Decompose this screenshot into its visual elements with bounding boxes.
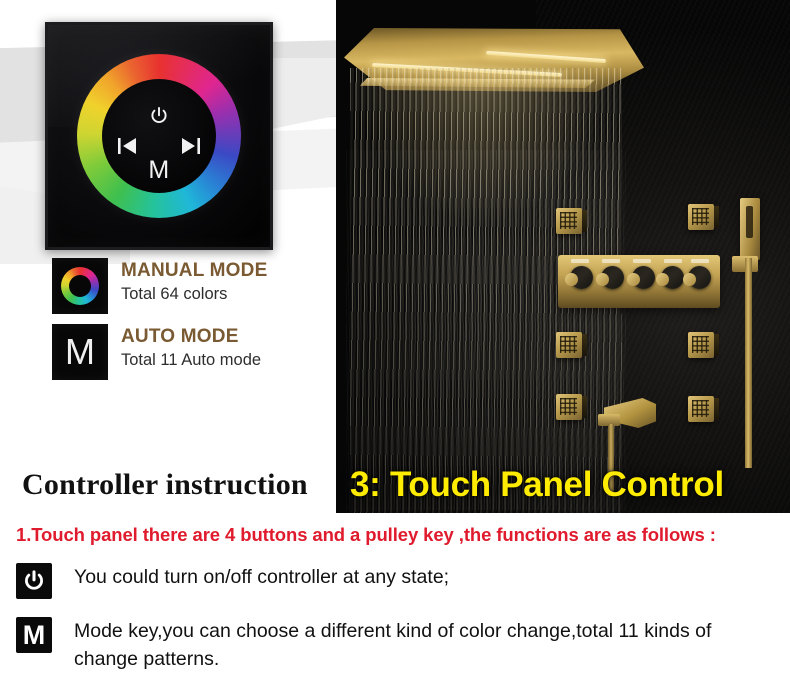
instruction-text: Mode key,you can choose a different kind… (52, 617, 774, 674)
valve-knob (661, 266, 684, 289)
next-track-icon[interactable] (178, 135, 202, 157)
instruction-text: You could turn on/off controller at any … (52, 563, 449, 591)
handheld-shower (740, 198, 760, 260)
valve-label (571, 259, 589, 263)
infographic-canvas: M MANUAL MODE Total 64 colors M AUTO MOD… (0, 0, 790, 692)
touch-panel-controller: M (45, 22, 273, 250)
valve-knob (601, 266, 624, 289)
body-jet (688, 332, 714, 358)
instructions-intro: 1.Touch panel there are 4 buttons and a … (16, 524, 716, 546)
body-jet (688, 204, 714, 230)
body-jet (556, 394, 582, 420)
mode-legend: MANUAL MODE Total 64 colors M AUTO MODE … (52, 258, 332, 390)
valve-label (664, 259, 682, 263)
mode-m-icon: M (16, 617, 52, 653)
legend-item-manual-mode: MANUAL MODE Total 64 colors (52, 258, 332, 314)
legend-text-block: AUTO MODE Total 11 Auto mode (108, 324, 261, 371)
water-spray (346, 150, 626, 510)
thermostatic-valve-panel (558, 255, 720, 308)
body-jet (556, 208, 582, 234)
legend-subtitle: Total 64 colors (121, 284, 267, 305)
color-wheel-ring-icon (61, 267, 99, 305)
page-title: Controller instruction (22, 468, 308, 502)
legend-text-block: MANUAL MODE Total 64 colors (108, 258, 267, 305)
color-wheel-center: M (102, 79, 216, 193)
valve-label (691, 259, 709, 263)
legend-title: MANUAL MODE (121, 260, 267, 282)
valve-knob (688, 266, 711, 289)
instruction-row-mode: M Mode key,you can choose a different ki… (16, 617, 776, 674)
body-jet (556, 332, 582, 358)
instructions-list: You could turn on/off controller at any … (16, 563, 776, 692)
manual-mode-chip (52, 258, 108, 314)
valve-label (602, 259, 620, 263)
color-wheel[interactable]: M (77, 54, 241, 218)
legend-subtitle: Total 11 Auto mode (121, 350, 261, 371)
shower-system-photo: 3: Touch Panel Control (336, 0, 790, 513)
body-jet (688, 396, 714, 422)
legend-title: AUTO MODE (121, 326, 261, 348)
valve-knob (570, 266, 593, 289)
mode-m-glyph: M (23, 622, 46, 649)
handheld-hose (745, 258, 752, 468)
photo-caption: 3: Touch Panel Control (350, 465, 724, 505)
power-icon[interactable] (148, 105, 170, 127)
legend-item-auto-mode: M AUTO MODE Total 11 Auto mode (52, 324, 332, 380)
power-icon (16, 563, 52, 599)
valve-knob (632, 266, 655, 289)
instruction-row-power: You could turn on/off controller at any … (16, 563, 776, 599)
mode-m-button[interactable]: M (148, 158, 169, 183)
previous-track-icon[interactable] (116, 135, 140, 157)
auto-mode-chip: M (52, 324, 108, 380)
valve-label (633, 259, 651, 263)
mode-m-icon: M (65, 334, 95, 370)
